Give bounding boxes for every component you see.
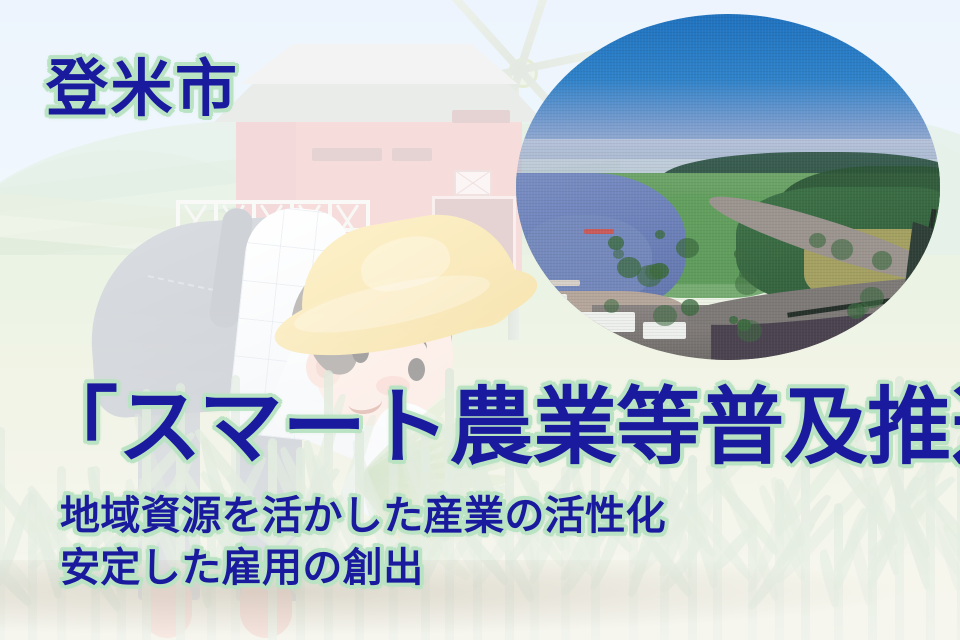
photo-grain-texture xyxy=(516,14,940,360)
subtitle-line-1: 地域資源を活かした産業の活性化 xyxy=(60,483,666,541)
poster-canvas: 登米市 「スマート農業等普及推進」 地域資源を活かした産業の活性化 安定した雇用… xyxy=(0,0,960,640)
page-title: 「スマート農業等普及推進」 xyxy=(34,360,960,481)
subtitle-line-2: 安定した雇用の創出 xyxy=(60,535,424,593)
city-name-label: 登米市 xyxy=(46,38,239,128)
circular-photo xyxy=(516,14,940,360)
